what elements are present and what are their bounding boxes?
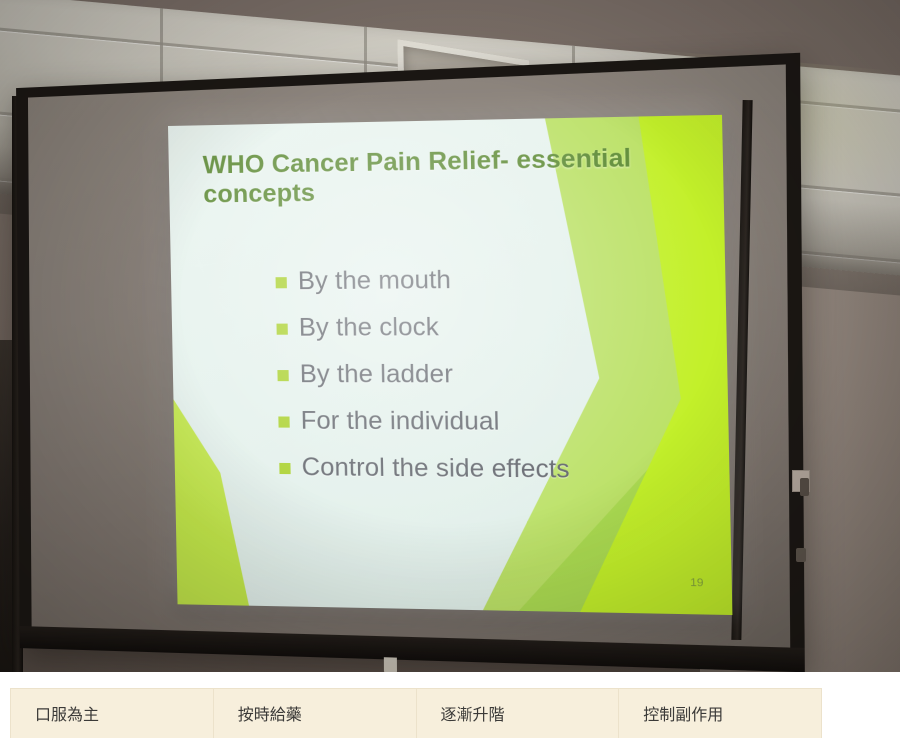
bullet-square-icon	[276, 277, 287, 288]
table-cell-side-effects: 控制副作用	[619, 689, 822, 738]
table-cell-on-schedule: 按時給藥	[213, 689, 416, 738]
bullet-label: Control the side effects	[301, 453, 570, 485]
slide-number: 19	[690, 577, 704, 590]
bullet-label: For the individual	[300, 406, 499, 436]
slide-bullet-list: By the mouth By the clock By the ladder …	[275, 264, 699, 504]
bullet-label: By the ladder	[300, 360, 454, 390]
list-item: By the ladder	[277, 360, 697, 390]
projected-slide: WHO Cancer Pain Relief- essential concep…	[168, 115, 732, 615]
list-item: By the mouth	[275, 264, 695, 297]
bullet-label: By the clock	[299, 313, 440, 343]
list-item: Control the side effects	[279, 453, 699, 486]
table-row: 口服為主 按時給藥 逐漸升階 控制副作用	[11, 689, 822, 738]
table-cell-oral-first: 口服為主	[11, 689, 214, 738]
slide-decoration-green-bottom-left	[171, 396, 249, 610]
page-root: WHO Cancer Pain Relief- essential concep…	[0, 0, 910, 738]
projector-screen-pull-tab	[384, 657, 397, 672]
bullet-square-icon	[279, 463, 290, 474]
list-item: For the individual	[278, 406, 698, 438]
wall-mounted-bracket	[796, 548, 806, 562]
caption-table: 口服為主 按時給藥 逐漸升階 控制副作用	[10, 688, 822, 738]
bullet-square-icon	[277, 370, 288, 381]
list-item: By the clock	[276, 312, 696, 343]
bullet-label: By the mouth	[298, 266, 452, 297]
wall-mounted-device	[800, 478, 809, 496]
bullet-square-icon	[278, 416, 289, 427]
bullet-square-icon	[276, 324, 287, 335]
slide-title: WHO Cancer Pain Relief- essential concep…	[202, 143, 660, 209]
table-cell-step-ladder: 逐漸升階	[416, 689, 619, 738]
lecture-room-photo: WHO Cancer Pain Relief- essential concep…	[0, 0, 900, 672]
